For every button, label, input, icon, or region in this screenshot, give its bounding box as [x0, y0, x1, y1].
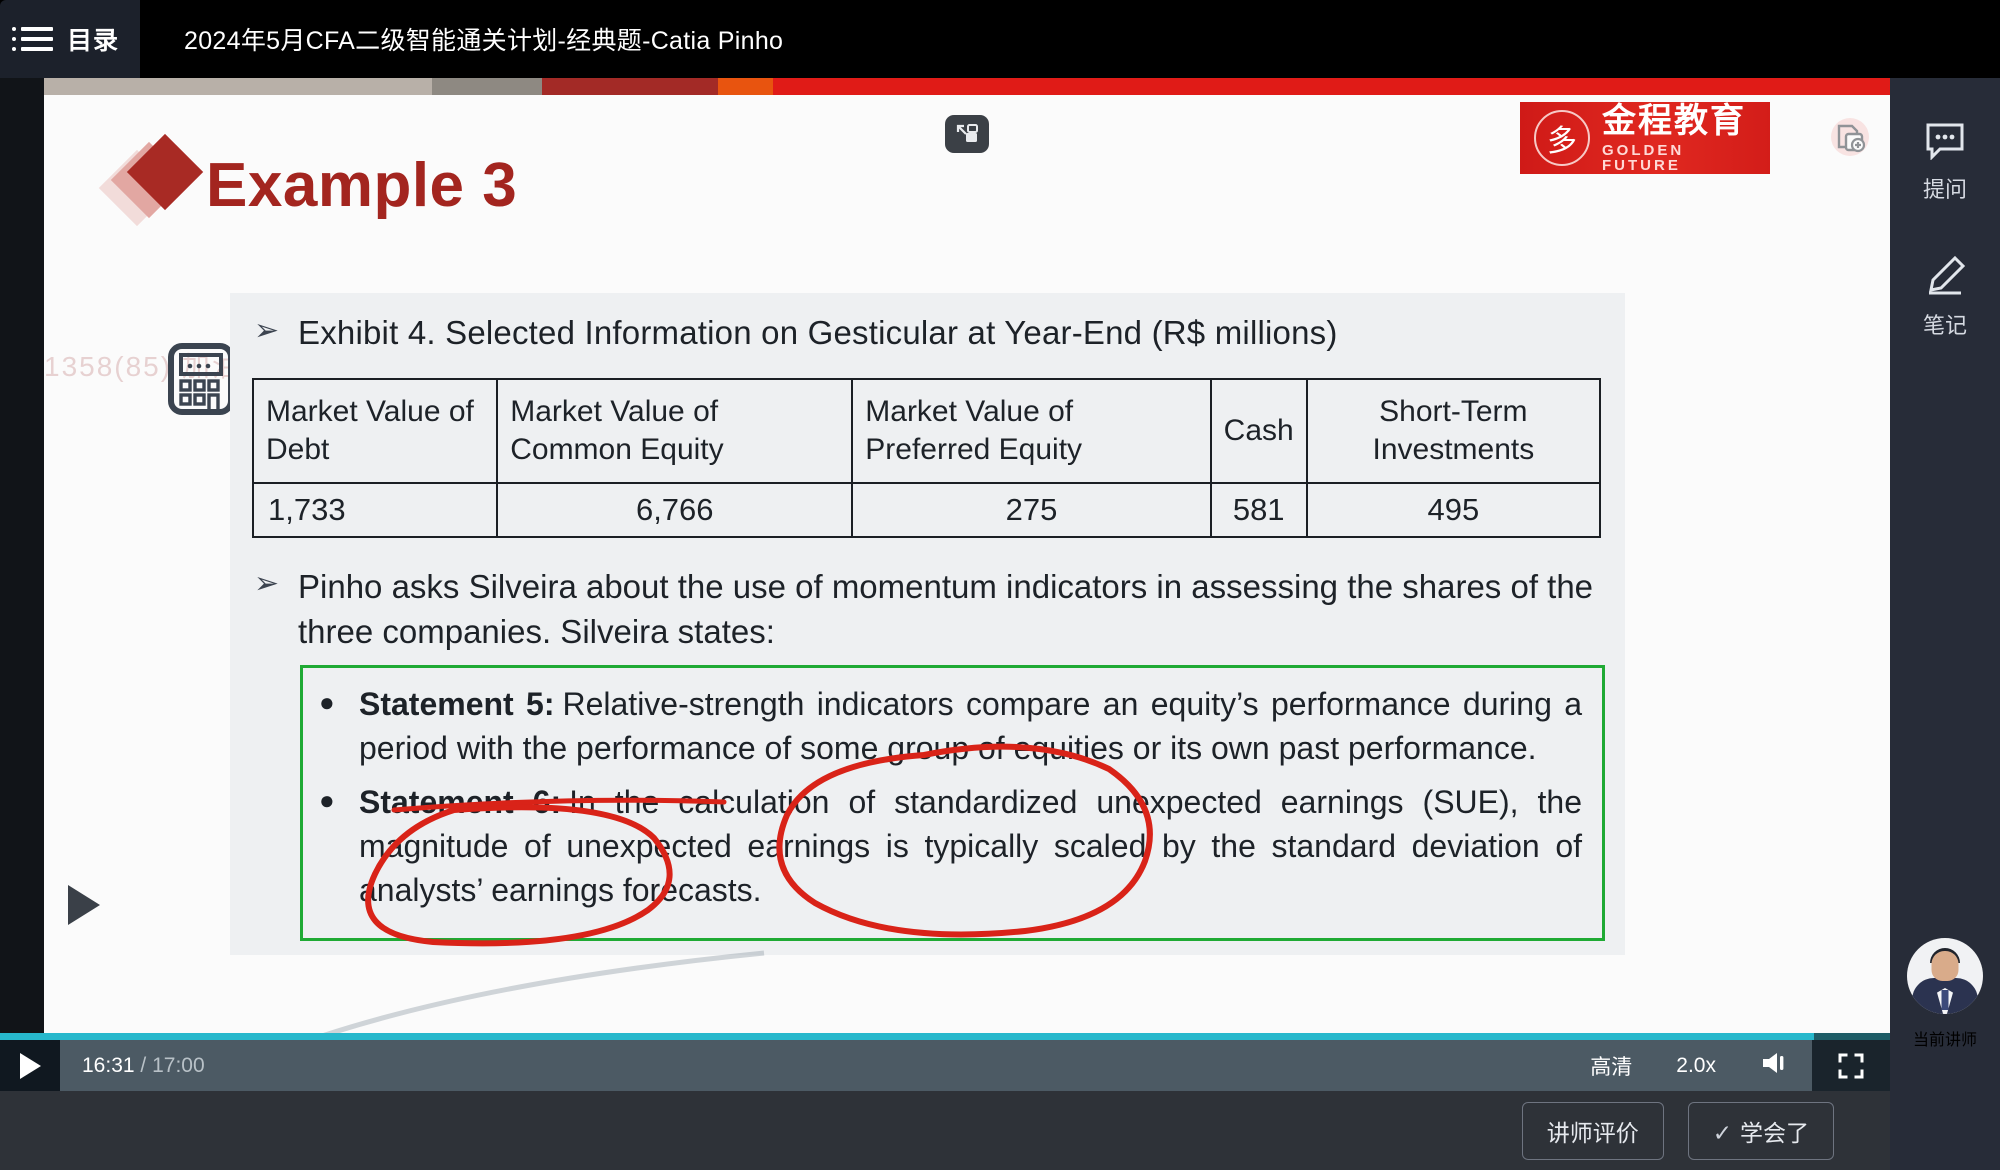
logo-chinese-name: 金程教育: [1602, 104, 1770, 138]
top-bar: 目录 2024年5月CFA二级智能通关计划-经典题-Catia Pinho: [0, 0, 2000, 78]
table-cell: 581: [1211, 483, 1307, 537]
learned-button[interactable]: ✓学会了: [1688, 1102, 1834, 1160]
quality-selector[interactable]: 高清: [1568, 1051, 1654, 1081]
faint-ink-stroke: [244, 945, 944, 1033]
table-header-row: Market Value of Debt Market Value of Com…: [253, 379, 1600, 483]
slide-title: Example 3: [206, 150, 517, 221]
statements-highlight-box: ● Statement 5:Relative-strength indicato…: [300, 665, 1605, 942]
table-header-cell: Market Value of Common Equity: [497, 379, 852, 483]
exhibit-heading-row: ➢ Exhibit 4. Selected Information on Ges…: [230, 311, 1625, 356]
time-separator: /: [140, 1054, 146, 1077]
current-time: 16:31: [82, 1054, 135, 1077]
toc-label: 目录: [67, 21, 119, 57]
pencil-icon: [1924, 256, 1966, 296]
dot-bullet-icon: ●: [319, 682, 359, 770]
play-icon: [20, 1053, 41, 1079]
sidebar-item-notes[interactable]: 笔记: [1923, 256, 1967, 340]
logo-seal-icon: [1534, 110, 1590, 166]
question-paragraph-row: ➢ Pinho asks Silveira about the use of m…: [230, 564, 1625, 655]
sidebar-item-ask-label: 提问: [1923, 172, 1967, 204]
progress-bar[interactable]: [0, 1033, 1890, 1040]
bottom-action-bar: 讲师评价 ✓学会了: [0, 1091, 1890, 1170]
instructor-review-label: 讲师评价: [1547, 1120, 1639, 1146]
play-pause-button[interactable]: [0, 1040, 60, 1091]
sidebar-item-ask[interactable]: 提问: [1923, 122, 1967, 204]
video-stage[interactable]: 1358(85) 加油! 金程教育 GOLDEN FUTURE: [44, 70, 1890, 1033]
fullscreen-button[interactable]: [1812, 1040, 1890, 1091]
table-value-row: 1,733 6,766 275 581 495: [253, 483, 1600, 537]
instructor-avatar: [1907, 938, 1983, 1014]
slide-canvas: 1358(85) 加油! 金程教育 GOLDEN FUTURE: [44, 95, 1890, 1033]
table-cell: 1,733: [253, 483, 497, 537]
diamond-logo-icon: [110, 143, 206, 227]
chevron-bullet-icon: ➢: [254, 564, 298, 605]
volume-button[interactable]: [1738, 1050, 1812, 1082]
right-sidebar: 提问 笔记 当前讲师: [1890, 70, 2000, 1170]
question-paragraph: Pinho asks Silveira about the use of mom…: [298, 564, 1601, 655]
course-title: 2024年5月CFA二级智能通关计划-经典题-Catia Pinho: [184, 21, 783, 57]
total-time: 17:00: [152, 1054, 205, 1077]
progress-fill: [0, 1033, 1814, 1040]
statement-5-row: ● Statement 5:Relative-strength indicato…: [319, 682, 1582, 770]
exhibit-heading: Exhibit 4. Selected Information on Gesti…: [298, 311, 1338, 356]
logo-english-name: GOLDEN FUTURE: [1602, 143, 1770, 173]
fullscreen-icon: [1837, 1052, 1865, 1080]
chat-icon: [1924, 122, 1966, 160]
table-cell: 275: [852, 483, 1210, 537]
table-of-contents-button[interactable]: 目录: [0, 0, 140, 78]
hamburger-icon: [21, 27, 53, 51]
table-header-cell: Short-Term Investments: [1307, 379, 1600, 483]
table-header-cell: Market Value of Preferred Equity: [852, 379, 1210, 483]
chevron-bullet-icon: ➢: [254, 311, 298, 352]
table-header-cell: Market Value of Debt: [253, 379, 497, 483]
instructor-review-button[interactable]: 讲师评价: [1522, 1102, 1664, 1160]
statement-5-label: Statement 5:: [359, 686, 554, 722]
calculator-icon: [168, 343, 234, 415]
table-cell: 6,766: [497, 483, 852, 537]
playback-speed-selector[interactable]: 2.0x: [1654, 1054, 1738, 1078]
video-controls: 16:31 / 17:00 高清 2.0x: [0, 1033, 2000, 1091]
picture-in-picture-icon[interactable]: [945, 115, 989, 153]
slide-animation-play-icon[interactable]: [68, 885, 100, 925]
exhibit-table: Market Value of Debt Market Value of Com…: [252, 378, 1601, 538]
video-player-page: 目录 2024年5月CFA二级智能通关计划-经典题-Catia Pinho 13…: [0, 0, 2000, 1170]
table-header-cell: Cash: [1211, 379, 1307, 483]
time-display: 16:31 / 17:00: [82, 1054, 205, 1078]
dot-bullet-icon: ●: [319, 780, 359, 912]
check-icon: ✓: [1713, 1120, 1732, 1146]
sidebar-item-notes-label: 笔记: [1923, 308, 1967, 340]
current-instructor[interactable]: 当前讲师: [1907, 938, 1983, 1050]
learned-label: 学会了: [1740, 1120, 1809, 1146]
volume-icon: [1760, 1050, 1790, 1076]
table-cell: 495: [1307, 483, 1600, 537]
slide-content-panel: ➢ Exhibit 4. Selected Information on Ges…: [230, 293, 1625, 955]
statement-6-row: ● Statement 6:In the calculation of stan…: [319, 780, 1582, 912]
control-bar: 16:31 / 17:00 高清 2.0x: [0, 1040, 1890, 1091]
statement-6-label: Statement 6:: [359, 784, 561, 820]
screenshot-note-icon[interactable]: [1828, 117, 1872, 161]
instructor-label: 当前讲师: [1913, 1026, 1977, 1050]
slide-title-block: Example 3: [110, 143, 517, 227]
golden-future-logo: 金程教育 GOLDEN FUTURE: [1520, 102, 1770, 174]
